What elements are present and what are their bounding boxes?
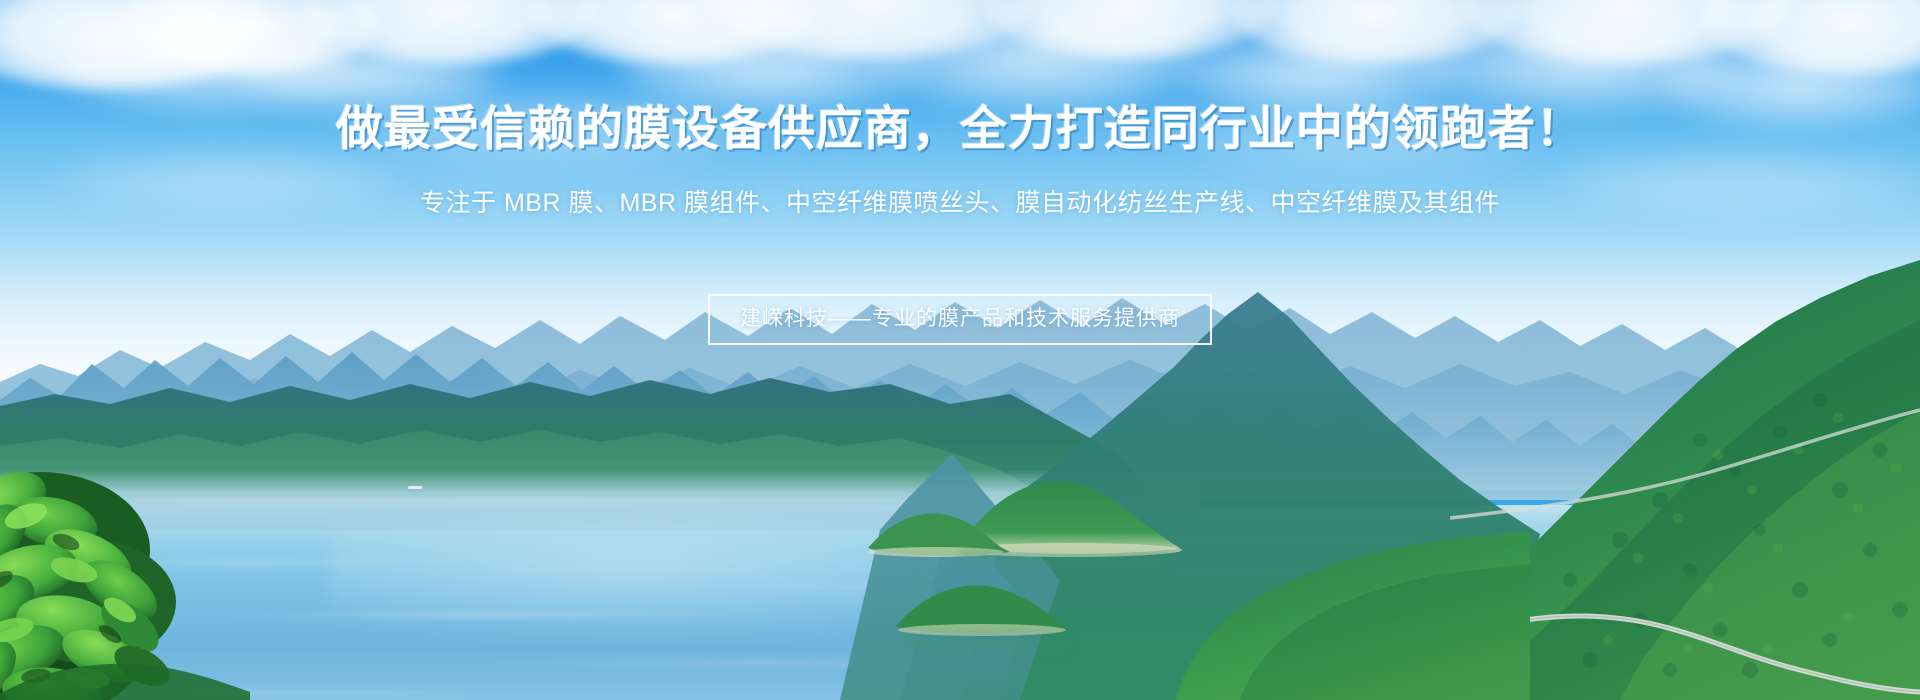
banner-headline: 做最受信赖的膜设备供应商，全力打造同行业中的领跑者！ xyxy=(0,100,1920,158)
banner-tagline-box: 建嵘科技——专业的膜产品和技术服务提供商 xyxy=(708,294,1212,345)
island-reflection xyxy=(900,634,1070,654)
banner-tagline-row: 建嵘科技——专业的膜产品和技术服务提供商 xyxy=(0,294,1920,345)
banner-subheadline: 专注于 MBR 膜、MBR 膜组件、中空纤维膜喷丝头、膜自动化纺丝生产线、中空纤… xyxy=(0,186,1920,220)
boat xyxy=(408,486,422,489)
island-reflection xyxy=(960,550,1170,572)
forest-texture xyxy=(0,200,1920,700)
hero-banner: 做最受信赖的膜设备供应商，全力打造同行业中的领跑者！ 专注于 MBR 膜、MBR… xyxy=(0,0,1920,700)
